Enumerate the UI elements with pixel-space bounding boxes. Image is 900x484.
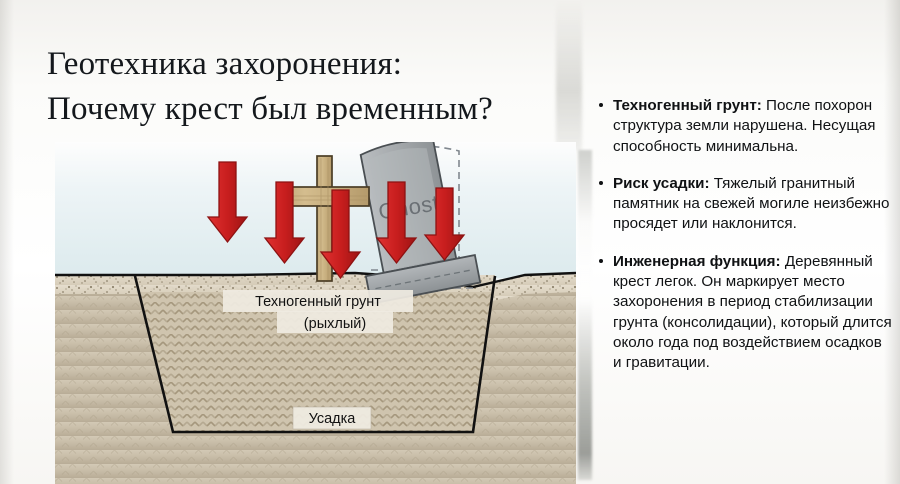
- list-item: Риск усадки: Тяжелый гранитный памятник …: [598, 174, 894, 235]
- background-gray-band: [578, 150, 592, 480]
- backfill-label-line-1: Техногенный грунт: [255, 294, 381, 310]
- slide-root: Геотехника захоронения: Почему крест был…: [0, 0, 900, 484]
- settlement-label: Усадка: [293, 407, 371, 429]
- page-title-line-1: Геотехника захоронения:: [47, 42, 567, 87]
- page-title: Геотехника захоронения: Почему крест был…: [47, 42, 567, 132]
- bullet-body: Деревянный крест легок. Он маркирует мес…: [613, 253, 892, 371]
- burial-geotechnics-diagram: Ghost: [55, 142, 576, 484]
- bullet-dot-icon: [599, 181, 603, 185]
- list-item: Техногенный грунт: После похорон структу…: [598, 96, 894, 157]
- list-item: Инженерная функция: Деревянный крест лег…: [598, 252, 894, 374]
- bullet-list: Техногенный грунт: После похорон структу…: [598, 96, 894, 373]
- bullet-lead: Инженерная функция:: [613, 253, 781, 270]
- sky: [55, 142, 576, 278]
- bullet-lead: Риск усадки:: [613, 175, 710, 192]
- settlement-label-text: Усадка: [309, 411, 357, 427]
- page-title-line-2: Почему крест был временным?: [47, 87, 567, 132]
- bullet-lead: Техногенный грунт:: [613, 97, 762, 114]
- backfill-label-line-2: (рыхлый): [304, 316, 366, 332]
- bullet-dot-icon: [599, 259, 603, 263]
- bullet-dot-icon: [599, 103, 603, 107]
